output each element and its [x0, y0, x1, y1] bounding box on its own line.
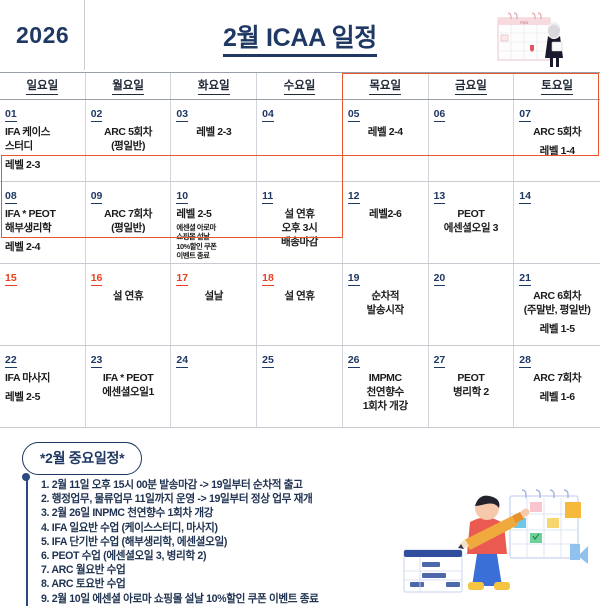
- day-event-text: IFA * PEOT해부생리학: [5, 207, 80, 235]
- day-number: 09: [91, 191, 103, 204]
- calendar-day-cell-24[interactable]: 24: [171, 346, 257, 427]
- day-number: 20: [434, 273, 446, 286]
- day-number: 02: [91, 109, 103, 122]
- weekday-label: 월요일: [112, 77, 144, 95]
- calendar-day-cell-16[interactable]: 16설 연휴: [86, 264, 172, 345]
- day-event-text: 레벨 2-5: [176, 207, 251, 221]
- day-number: 07: [519, 109, 531, 122]
- calendar-day-cell-09[interactable]: 09ARC 7회차(평일반): [86, 182, 172, 263]
- calendar-week-row: 01IFA 케이스스터디레벨 2-302ARC 5회차(평일반)03레벨 2-3…: [0, 100, 600, 182]
- day-event-text: PEOT병리학 2: [434, 371, 509, 399]
- weekday-header-sat: 토요일: [514, 73, 600, 99]
- calendar-day-cell-07[interactable]: 07ARC 5회차레벨 1-4: [514, 100, 600, 181]
- day-event-text: ARC 6회차(주말반, 평일반): [519, 289, 595, 317]
- day-event-text: 레벨 2-4: [348, 125, 423, 139]
- day-number: 13: [434, 191, 446, 204]
- note-item: 9. 2월 10일 에센셜 아로마 쇼핑몰 설날 10%할인 쿠폰 이벤트 종료: [41, 592, 319, 606]
- calendar-page: 2026 2월 ICAA 일정 FEB: [0, 0, 600, 600]
- note-item: 4. IFA 일요반 수업 (케이스스터디, 마사지): [41, 521, 319, 535]
- calendar-week-row: 08IFA * PEOT해부생리학레벨 2-409ARC 7회차(평일반)10레…: [0, 182, 600, 264]
- calendar-day-cell-06[interactable]: 06: [429, 100, 515, 181]
- calendar-day-cell-23[interactable]: 23IFA * PEOT에센셜오일1: [86, 346, 172, 427]
- calendar-day-cell-28[interactable]: 28ARC 7회차레벨 1-6: [514, 346, 600, 427]
- page-title-text: 2월 ICAA 일정: [223, 24, 377, 57]
- day-number: 27: [434, 355, 446, 368]
- day-number: 04: [262, 109, 274, 122]
- day-level-label: 레벨 1-6: [519, 390, 595, 404]
- day-level-label: 레벨 2-5: [5, 390, 80, 404]
- day-number: 15: [5, 273, 17, 286]
- weekday-label: 화요일: [198, 77, 230, 95]
- calendar-day-cell-13[interactable]: 13PEOT에센셜오일 3: [429, 182, 515, 263]
- person-planning-calendar-illustration: [402, 478, 592, 608]
- day-number: 11: [262, 191, 273, 204]
- day-event-text: ARC 7회차(평일반): [91, 207, 166, 235]
- day-number: 24: [176, 355, 188, 368]
- day-number: 08: [5, 191, 17, 204]
- weekday-label: 수요일: [284, 77, 316, 95]
- calendar-day-cell-01[interactable]: 01IFA 케이스스터디레벨 2-3: [0, 100, 86, 181]
- calendar-day-cell-08[interactable]: 08IFA * PEOT해부생리학레벨 2-4: [0, 182, 86, 263]
- calendar-day-cell-21[interactable]: 21ARC 6회차(주말반, 평일반)레벨 1-5: [514, 264, 600, 345]
- calendar-day-cell-12[interactable]: 12레벨2-6: [343, 182, 429, 263]
- day-event-text: ARC 5회차(평일반): [91, 125, 166, 153]
- day-number: 05: [348, 109, 360, 122]
- page-header: 2026 2월 ICAA 일정 FEB: [0, 0, 600, 72]
- day-number: 06: [434, 109, 446, 122]
- weekday-header-row: 일요일 월요일 화요일 수요일 목요일 금요일 토요일: [0, 73, 600, 100]
- calendar-day-cell-14[interactable]: 14: [514, 182, 600, 263]
- day-number: 25: [262, 355, 274, 368]
- day-event-text: 순차적발송시작: [348, 289, 423, 317]
- calendar-week-row: 22IFA 마사지레벨 2-523IFA * PEOT에센셜오일1242526I…: [0, 346, 600, 428]
- day-level-label: 레벨 1-4: [519, 144, 595, 158]
- calendar-day-cell-15[interactable]: 15: [0, 264, 86, 345]
- calendar-week-row: 1516설 연휴17설날18설 연휴19순차적발송시작2021ARC 6회차(주…: [0, 264, 600, 346]
- calendar-day-cell-02[interactable]: 02ARC 5회차(평일반): [86, 100, 172, 181]
- day-number: 14: [519, 191, 531, 204]
- note-item: 2. 행정업무, 물류업무 11일까지 운영 -> 19일부터 정상 업무 재개: [41, 492, 319, 506]
- day-number: 10: [176, 191, 188, 204]
- note-item: 3. 2월 26일 INPMC 천연향수 1회차 개강: [41, 506, 319, 520]
- calendar-weeks: 01IFA 케이스스터디레벨 2-302ARC 5회차(평일반)03레벨 2-3…: [0, 100, 600, 428]
- weekday-header-tue: 화요일: [171, 73, 257, 99]
- bullet-dot-icon: [22, 473, 30, 481]
- day-event-text: 설 연휴오후 3시배송마감: [262, 207, 337, 249]
- day-event-text: IFA * PEOT에센셜오일1: [91, 371, 166, 399]
- day-number: 23: [91, 355, 103, 368]
- day-number: 16: [91, 273, 103, 286]
- day-event-text: ARC 7회차: [519, 371, 595, 385]
- weekday-header-wed: 수요일: [257, 73, 343, 99]
- day-number: 21: [519, 273, 531, 286]
- calendar-day-cell-18[interactable]: 18설 연휴: [257, 264, 343, 345]
- day-level-label: 레벨 2-3: [5, 158, 80, 172]
- note-item: 5. IFA 단기반 수업 (해부생리학, 에센셜오일): [41, 535, 319, 549]
- day-event-text: 설 연휴: [91, 289, 166, 303]
- note-item: 8. ARC 토요반 수업: [41, 577, 319, 591]
- calendar-grid: 일요일 월요일 화요일 수요일 목요일 금요일 토요일 01IFA 케이스스터디…: [0, 72, 600, 428]
- day-number: 19: [348, 273, 360, 286]
- weekday-label: 금요일: [455, 77, 487, 95]
- day-event-text: 레벨 2-3: [176, 125, 251, 139]
- day-event-text: PEOT에센셜오일 3: [434, 207, 509, 235]
- note-item: 6. PEOT 수업 (에센셜오일 3, 병리학 2): [41, 549, 319, 563]
- calendar-day-cell-26[interactable]: 26IMPMC천연향수1회차 개강: [343, 346, 429, 427]
- calendar-day-cell-22[interactable]: 22IFA 마사지레벨 2-5: [0, 346, 86, 427]
- svg-text:FEB: FEB: [520, 20, 528, 25]
- day-number: 26: [348, 355, 360, 368]
- calendar-day-cell-25[interactable]: 25: [257, 346, 343, 427]
- calendar-person-illustration: FEB: [490, 6, 586, 68]
- day-event-text: IMPMC천연향수1회차 개강: [348, 371, 423, 413]
- weekday-header-mon: 월요일: [86, 73, 172, 99]
- calendar-day-cell-19[interactable]: 19순차적발송시작: [343, 264, 429, 345]
- day-number: 28: [519, 355, 531, 368]
- weekday-header-sun: 일요일: [0, 73, 86, 99]
- day-number: 18: [262, 273, 274, 286]
- important-notes-panel: *2월 중요일정* 1. 2월 11일 오후 15시 00분 발송마감 -> 1…: [0, 440, 600, 604]
- weekday-header-thu: 목요일: [343, 73, 429, 99]
- day-event-text: 설 연휴: [262, 289, 337, 303]
- day-number: 12: [348, 191, 360, 204]
- calendar-day-cell-27[interactable]: 27PEOT병리학 2: [429, 346, 515, 427]
- calendar-day-cell-05[interactable]: 05레벨 2-4: [343, 100, 429, 181]
- weekday-label: 목요일: [369, 77, 401, 95]
- calendar-day-cell-20[interactable]: 20: [429, 264, 515, 345]
- weekday-label: 일요일: [26, 77, 58, 95]
- day-event-text: IFA 케이스스터디: [5, 125, 80, 153]
- weekday-header-fri: 금요일: [429, 73, 515, 99]
- weekday-label: 토요일: [541, 77, 573, 95]
- day-level-label: 레벨 1-5: [519, 322, 595, 336]
- notes-list: 1. 2월 11일 오후 15시 00분 발송마감 -> 19일부터 순차적 출…: [26, 478, 319, 606]
- calendar-day-cell-04[interactable]: 04: [257, 100, 343, 181]
- calendar-day-cell-10[interactable]: 10레벨 2-5에센셜 아로마쇼핑몰 설날10%할인 쿠폰이벤트 종료: [171, 182, 257, 263]
- calendar-day-cell-17[interactable]: 17설날: [171, 264, 257, 345]
- day-event-text: 레벨2-6: [348, 207, 423, 221]
- day-event-text: 설날: [176, 289, 251, 303]
- day-number: 22: [5, 355, 17, 368]
- calendar-day-cell-03[interactable]: 03레벨 2-3: [171, 100, 257, 181]
- note-item: 1. 2월 11일 오후 15시 00분 발송마감 -> 19일부터 순차적 출…: [41, 478, 319, 492]
- day-number: 17: [176, 273, 188, 286]
- day-event-text: ARC 5회차: [519, 125, 595, 139]
- day-number: 01: [5, 109, 17, 122]
- day-event-note: 에센셜 아로마쇼핑몰 설날10%할인 쿠폰이벤트 종료: [176, 223, 251, 261]
- day-level-label: 레벨 2-4: [5, 240, 80, 254]
- calendar-day-cell-11[interactable]: 11설 연휴오후 3시배송마감: [257, 182, 343, 263]
- day-number: 03: [176, 109, 188, 122]
- day-event-text: IFA 마사지: [5, 371, 80, 385]
- note-item: 7. ARC 월요반 수업: [41, 563, 319, 577]
- notes-badge: *2월 중요일정*: [22, 442, 142, 475]
